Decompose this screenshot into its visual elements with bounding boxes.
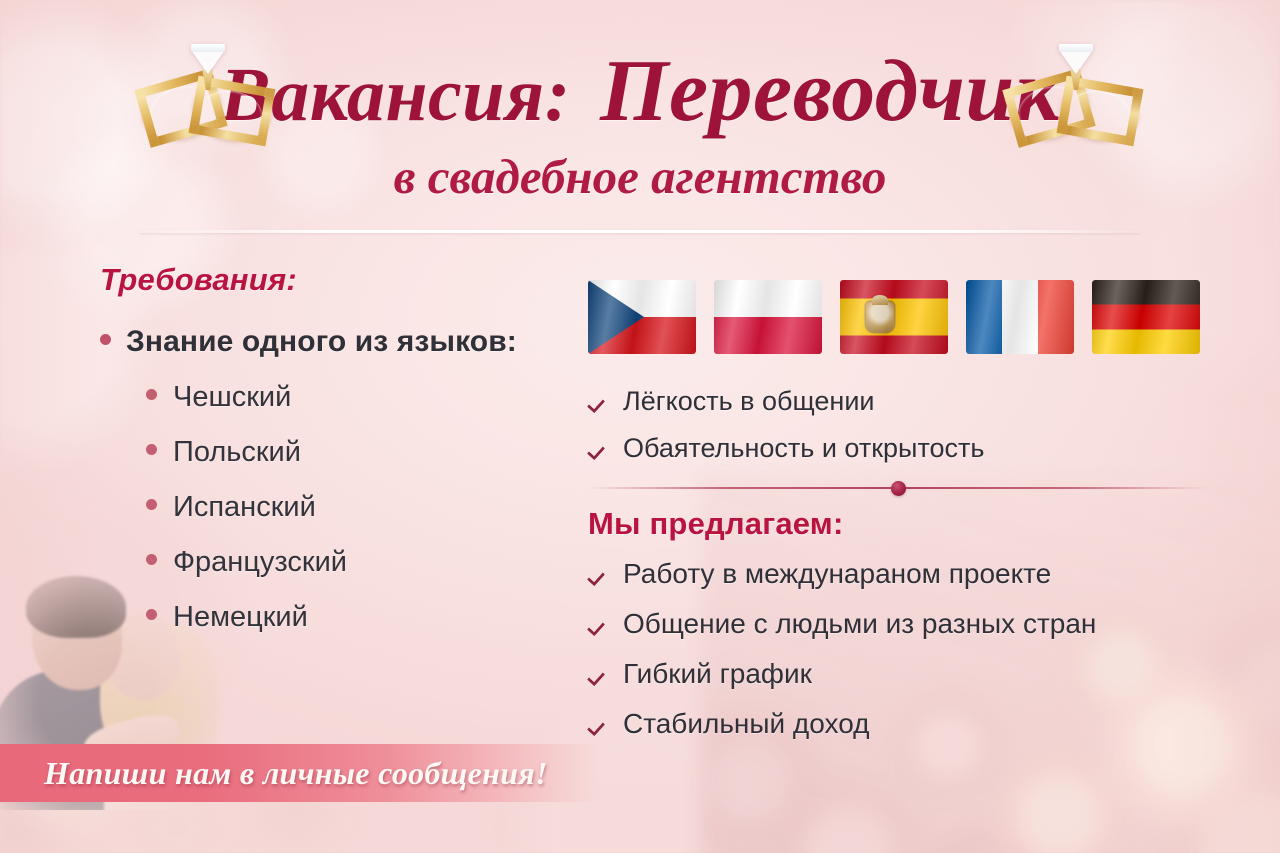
call-to-action-banner[interactable]: Напиши нам в личные сообщения! [0, 744, 600, 802]
language-list: Чешский Польский Испанский Французский Н… [146, 381, 570, 634]
bullet-icon [100, 334, 111, 345]
diamond-icon [1059, 50, 1093, 74]
flags-row [588, 280, 1238, 366]
list-item: Немецкий [146, 601, 570, 634]
requirements-intro-label: Знание одного из языков: [126, 325, 517, 359]
language-label: Чешский [173, 381, 291, 414]
check-icon [588, 390, 610, 412]
bullet-icon [146, 609, 157, 620]
offer-heading: Мы предлагаем: [588, 506, 1238, 542]
page-subtitle: в свадебное агентство [0, 146, 1280, 208]
bullet-icon [146, 389, 157, 400]
check-icon [588, 563, 610, 585]
czech-flag-triangle [588, 280, 644, 354]
language-label: Польский [173, 436, 301, 469]
list-item: Польский [146, 436, 570, 469]
requirements-intro-row: Знание одного из языков: [100, 325, 570, 359]
soft-skill-label: Лёгкость в общении [623, 386, 874, 417]
list-item: Лёгкость в общении [588, 386, 1238, 417]
poland-flag-icon [714, 280, 822, 354]
offer-column: Лёгкость в общении Обаятельность и откры… [588, 280, 1238, 758]
title-row: Вакансия: Переводчик [0, 42, 1280, 150]
section-divider [588, 480, 1208, 496]
offer-label: Общение с людьми из разных стран [623, 608, 1096, 640]
check-icon [588, 663, 610, 685]
list-item: Чешский [146, 381, 570, 414]
france-flag-icon [966, 280, 1074, 354]
list-item: Стабильный доход [588, 708, 1238, 740]
spain-coat-of-arms-icon [866, 302, 894, 332]
call-to-action-label: Напиши нам в личные сообщения! [44, 755, 548, 792]
soft-skill-label: Обаятельность и открытость [623, 433, 984, 464]
offer-label: Стабильный доход [623, 708, 870, 740]
requirements-heading: Требования: [100, 262, 570, 298]
wedding-rings-icon-left [133, 48, 283, 144]
check-icon [588, 437, 610, 459]
requirements-column: Требования: Знание одного из языков: Чеш… [100, 262, 570, 656]
list-item: Работу в междунараном проекте [588, 558, 1238, 590]
flag-shading [840, 280, 948, 354]
germany-flag-icon [1092, 280, 1200, 354]
bullet-icon [146, 444, 157, 455]
offer-label: Гибкий график [623, 658, 812, 690]
list-item: Гибкий график [588, 658, 1238, 690]
offer-list: Работу в междунараном проекте Общение с … [588, 558, 1238, 740]
spain-flag-icon [840, 280, 948, 354]
czech-flag-icon [588, 280, 696, 354]
soft-skills-list: Лёгкость в общении Обаятельность и откры… [588, 386, 1238, 464]
check-icon [588, 613, 610, 635]
flag-shading [714, 280, 822, 354]
language-label: Французский [173, 546, 347, 579]
diamond-icon [191, 50, 225, 74]
flag-shading [966, 280, 1074, 354]
wedding-rings-icon-right [1001, 48, 1151, 144]
divider-dot-icon [891, 481, 906, 496]
language-label: Немецкий [173, 601, 308, 634]
list-item: Французский [146, 546, 570, 579]
list-item: Обаятельность и открытость [588, 433, 1238, 464]
bullet-icon [146, 499, 157, 510]
list-item: Испанский [146, 491, 570, 524]
list-item: Общение с людьми из разных стран [588, 608, 1238, 640]
page-title-word-2: Переводчик [590, 43, 1060, 140]
language-label: Испанский [173, 491, 316, 524]
bullet-icon [146, 554, 157, 565]
flag-shading [1092, 280, 1200, 354]
offer-label: Работу в междунараном проекте [623, 558, 1051, 590]
check-icon [588, 713, 610, 735]
poster-root: Вакансия: Переводчик в свадебное агентст… [0, 0, 1280, 853]
poster-header: Вакансия: Переводчик в свадебное агентст… [0, 42, 1280, 233]
header-divider [140, 230, 1140, 233]
